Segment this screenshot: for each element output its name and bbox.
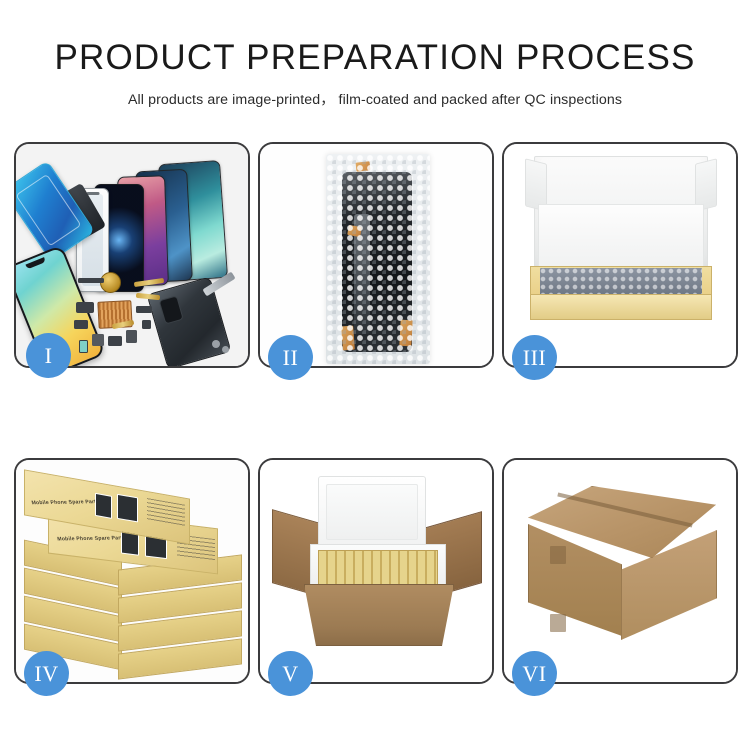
yellow-box-front-icon	[530, 294, 712, 320]
step-panel-5: V	[258, 458, 494, 684]
part-battery-icon	[79, 340, 88, 353]
step-4-image: Mobile Phone Spare Parts Mobile Phone Sp…	[16, 460, 248, 682]
part-block-6	[136, 306, 152, 313]
step-badge-3: III	[512, 335, 557, 380]
screw-icon-2	[222, 346, 229, 353]
bubble-texture	[326, 154, 430, 364]
screw-icon-1	[212, 340, 220, 348]
step-panel-3: III	[502, 142, 738, 368]
retail-box-stack: Mobile Phone Spare Parts Mobile Phone Sp…	[20, 474, 246, 674]
part-block-5	[126, 330, 137, 343]
box-spec-lines-1	[147, 498, 185, 527]
part-strip-1	[78, 278, 104, 283]
part-block-3	[92, 334, 104, 346]
foam-cooler-lid-icon	[318, 476, 426, 548]
page-title: PRODUCT PREPARATION PROCESS	[0, 40, 750, 77]
step-panel-1: I	[14, 142, 250, 368]
camera-module-icon	[159, 295, 184, 324]
step-3-image	[504, 144, 736, 366]
step-5-image	[260, 460, 492, 682]
bubble-wrap-bag-icon	[326, 154, 430, 364]
step-panel-4: Mobile Phone Spare Parts Mobile Phone Sp…	[14, 458, 250, 684]
process-step-grid: I II	[14, 142, 736, 684]
step-6-image	[504, 460, 736, 682]
step-badge-2: II	[268, 335, 313, 380]
box-product-image-1a	[95, 493, 112, 519]
bubble-wrapped-contents-icon	[540, 268, 702, 296]
part-block-2	[74, 320, 88, 329]
box-product-image-1b	[117, 494, 138, 523]
header: PRODUCT PREPARATION PROCESS All products…	[0, 40, 750, 109]
product-preparation-infographic: PRODUCT PREPARATION PROCESS All products…	[0, 0, 750, 750]
step-panel-2: II	[258, 142, 494, 368]
page-subtitle: All products are image-printed， film-coa…	[0, 89, 750, 109]
carton-body-icon	[304, 584, 454, 646]
part-block-1	[76, 302, 94, 313]
step-badge-6: VI	[512, 651, 557, 696]
part-block-4	[108, 336, 122, 346]
foam-sheet-icon	[538, 204, 704, 270]
carton-tab-icon-1	[550, 546, 566, 564]
step-badge-4: IV	[24, 651, 69, 696]
step-2-image	[260, 144, 492, 366]
box-brand-label-2: Mobile Phone Spare Parts	[57, 535, 126, 542]
step-badge-1: I	[26, 333, 71, 378]
carton-tab-icon-2	[550, 614, 566, 632]
step-badge-5: V	[268, 651, 313, 696]
part-block-7	[142, 320, 151, 329]
box-brand-label-1: Mobile Phone Spare Parts	[31, 499, 100, 506]
step-panel-6: VI	[502, 458, 738, 684]
